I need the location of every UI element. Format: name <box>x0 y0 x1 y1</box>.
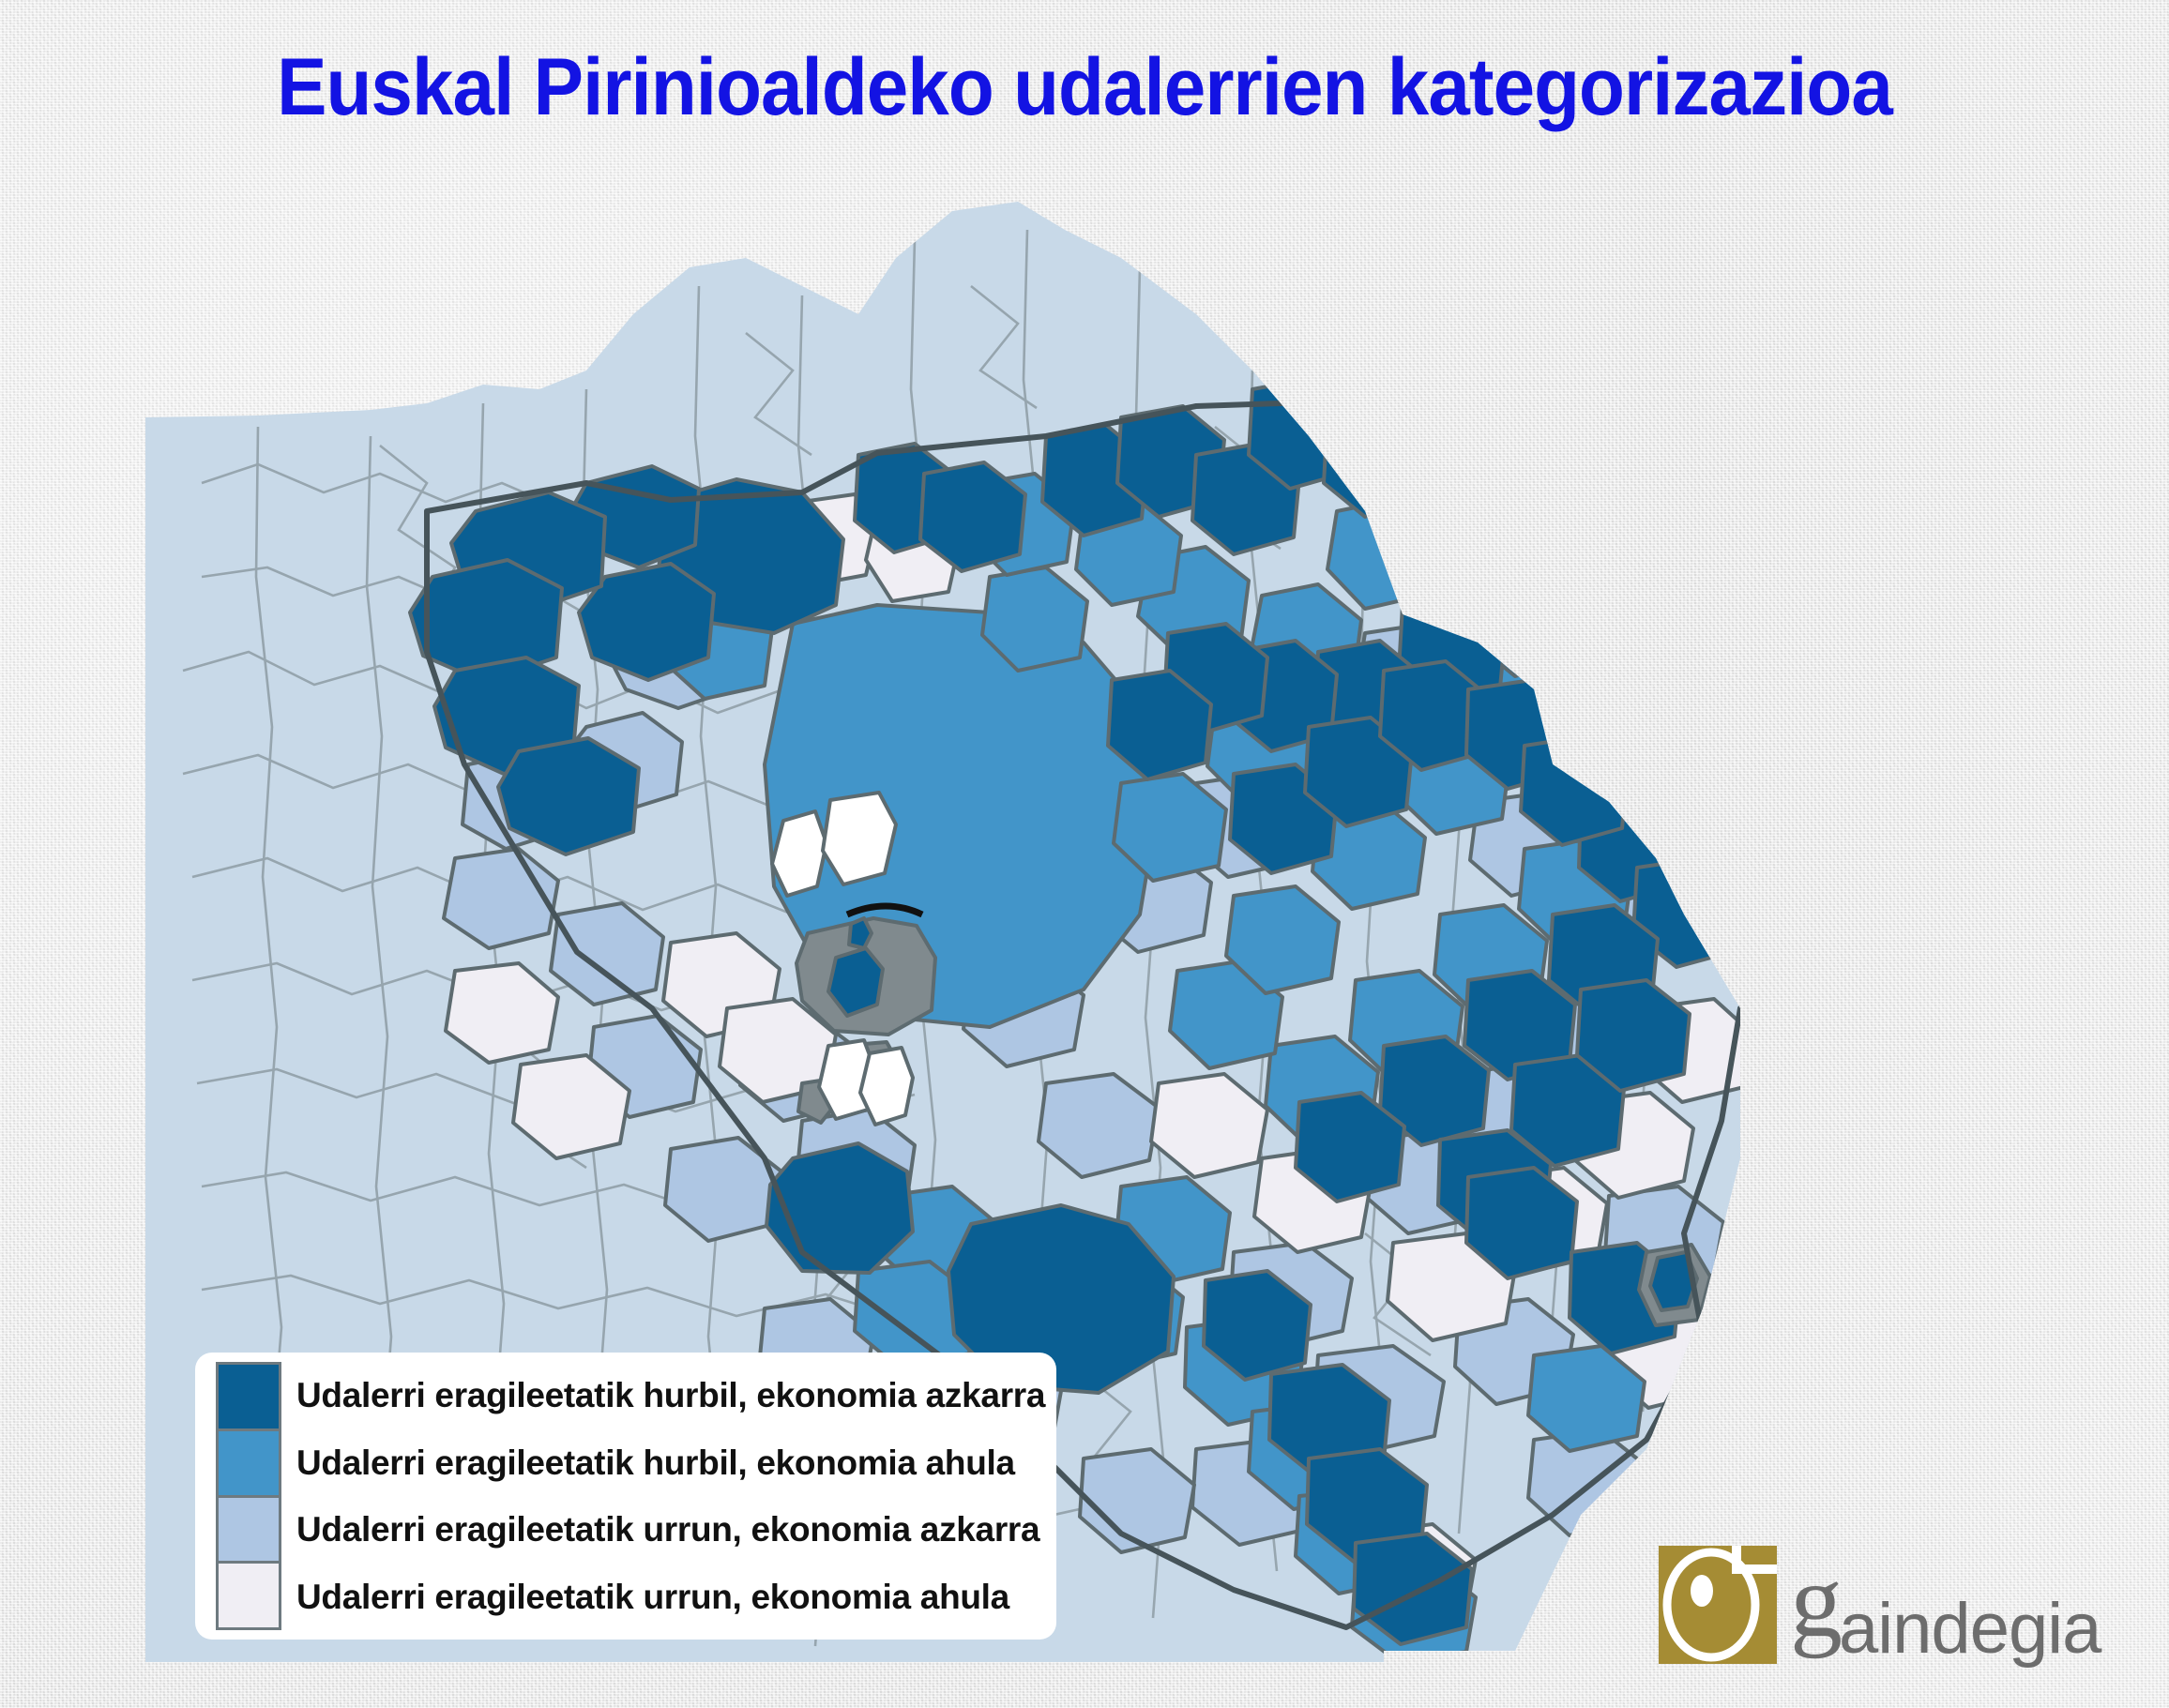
gaindegia-mark-icon <box>1659 1546 1777 1664</box>
legend-label-urrun-azkarra: Udalerri eragileetatik urrun, ekonomia a… <box>296 1512 1043 1547</box>
gaindegia-logo[interactable]: g aindegia <box>1659 1546 2109 1686</box>
legend-swatch-urrun-ahula[interactable] <box>219 1564 279 1627</box>
legend-swatch-urrun-azkarra[interactable] <box>219 1498 279 1564</box>
page-title: Euskal Pirinioaldeko udalerrien kategori… <box>76 41 2093 134</box>
legend-label-urrun-ahula: Udalerri eragileetatik urrun, ekonomia a… <box>296 1580 1043 1614</box>
gaindegia-wordmark: g aindegia <box>1790 1542 2109 1683</box>
legend-swatch-hurbil-azkarra[interactable] <box>219 1365 279 1431</box>
svg-text:aindegia: aindegia <box>1839 1589 2102 1669</box>
legend-label-hurbil-ahula: Udalerri eragileetatik hurbil, ekonomia … <box>296 1445 1043 1480</box>
legend-label-hurbil-azkarra: Udalerri eragileetatik hurbil, ekonomia … <box>296 1378 1043 1413</box>
svg-text:g: g <box>1790 1543 1843 1659</box>
legend-swatch-hurbil-ahula[interactable] <box>219 1431 279 1498</box>
legend-swatch-column <box>216 1362 281 1630</box>
legend-label-column: Udalerri eragileetatik hurbil, ekonomia … <box>296 1362 1043 1630</box>
map-legend[interactable]: Udalerri eragileetatik hurbil, ekonomia … <box>195 1353 1056 1640</box>
